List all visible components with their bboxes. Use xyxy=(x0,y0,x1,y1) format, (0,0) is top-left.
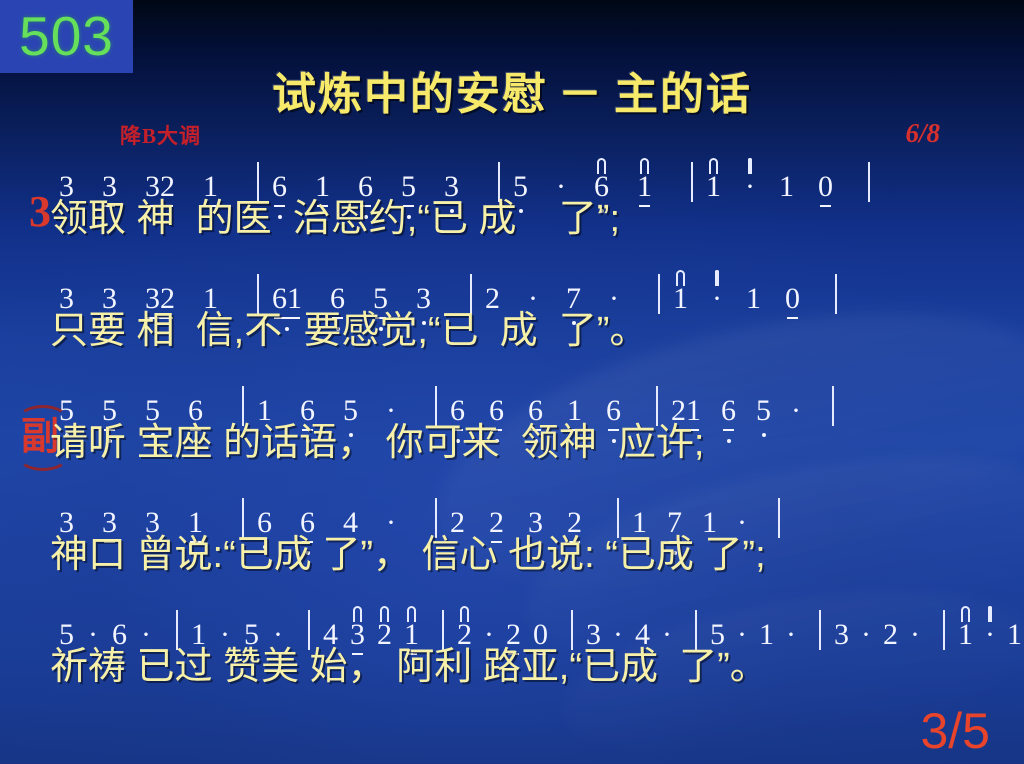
note: 5 xyxy=(512,156,529,202)
notation-system: 副5556165·666162165·请听 宝座 的话语， 你可来 领神 应许; xyxy=(0,380,1024,492)
barline xyxy=(819,610,821,650)
dotted-duration-mark: · xyxy=(984,604,996,650)
note: 32 xyxy=(144,156,176,202)
note: 21 xyxy=(670,380,702,426)
note: 3 xyxy=(443,156,460,202)
dotted-duration-mark: · xyxy=(555,156,567,202)
dotted-duration-mark: · xyxy=(661,604,673,650)
note: 6 xyxy=(527,380,544,426)
page-title: 试炼中的安慰－主的话 xyxy=(0,58,1024,122)
lyric-line: 只要 相 信,不 要感觉,“已 成 了”。 xyxy=(50,312,1014,352)
note: 3 xyxy=(527,492,544,538)
barline xyxy=(470,274,472,314)
dotted-duration-mark: · xyxy=(736,492,748,538)
note: 1 xyxy=(202,156,219,202)
note: 1 xyxy=(256,380,273,426)
note: 3 xyxy=(349,604,366,650)
dotted-duration-mark: · xyxy=(736,604,748,650)
note: 6 xyxy=(357,156,374,202)
note: 3 xyxy=(58,156,75,202)
note: 6 xyxy=(449,380,466,426)
barline xyxy=(257,274,259,314)
note: 3 xyxy=(144,492,161,538)
barline xyxy=(242,498,244,538)
note: 3 xyxy=(101,268,118,314)
note-glyph: 6 xyxy=(720,396,737,426)
note: 1 xyxy=(745,268,762,314)
dotted-duration-mark: · xyxy=(483,604,495,650)
barline xyxy=(242,386,244,426)
note: 6 xyxy=(299,492,316,538)
marker-label: 3 xyxy=(29,187,51,236)
dotted-duration-mark: · xyxy=(608,268,620,314)
note: 5 xyxy=(58,604,75,650)
note: 5 xyxy=(709,604,726,650)
barline xyxy=(308,610,310,650)
note: 1 xyxy=(705,156,722,202)
note: 6 xyxy=(593,156,610,202)
dotted-duration-mark: · xyxy=(790,380,802,426)
hymn-number: 503 xyxy=(19,9,114,64)
lyric-line: 神口 曾说:“已成 了”， 信心 也说: “已成 了”; xyxy=(50,536,1014,576)
note: 2 xyxy=(484,268,501,314)
note: 1 xyxy=(187,492,204,538)
title-dash: － xyxy=(548,70,614,119)
dotted-duration-mark: · xyxy=(272,604,284,650)
note: 1 xyxy=(701,492,718,538)
note: 3 xyxy=(58,492,75,538)
note: 7 xyxy=(565,268,582,314)
note: 6 xyxy=(329,268,346,314)
note: 5 xyxy=(243,604,260,650)
note: 2 xyxy=(376,604,393,650)
barline xyxy=(442,610,444,650)
note-glyph: · xyxy=(790,396,802,426)
note: 6 xyxy=(488,380,505,426)
note: 4 xyxy=(322,604,339,650)
note: 0 xyxy=(817,156,834,202)
barline xyxy=(571,610,573,650)
barline xyxy=(943,610,945,650)
note: 6 xyxy=(111,604,128,650)
note: 5 xyxy=(342,380,359,426)
note: 2 xyxy=(566,492,583,538)
lyric-line: 请听 宝座 的话语， 你可来 领神 应许; xyxy=(50,424,1014,464)
note: 5 xyxy=(755,380,772,426)
note-glyph: · xyxy=(984,620,996,650)
note: 1 xyxy=(314,156,331,202)
note-glyph: 1 xyxy=(1006,620,1023,650)
notation-system: 5·6·1·5·43212·203·4·5·1·3·2·1·10祈祷 已过 赞美… xyxy=(0,604,1024,716)
dotted-duration-mark: · xyxy=(219,604,231,650)
note: 4 xyxy=(634,604,651,650)
note: 0 xyxy=(784,268,801,314)
note: 1 xyxy=(636,156,653,202)
barline xyxy=(176,610,178,650)
notation-system: 33321616532·7·1·10只要 相 信,不 要感觉,“已 成 了”。 xyxy=(0,268,1024,380)
dotted-duration-mark: · xyxy=(909,604,921,650)
dotted-duration-mark: · xyxy=(744,156,756,202)
notation-system: 3331664·2232171·神口 曾说:“已成 了”， 信心 也说: “已成… xyxy=(0,492,1024,604)
barline xyxy=(656,386,658,426)
barline xyxy=(435,386,437,426)
note: 2 xyxy=(456,604,473,650)
note: 3 xyxy=(833,604,850,650)
note: 1 xyxy=(672,268,689,314)
dotted-duration-mark: · xyxy=(385,380,397,426)
note: 6 xyxy=(187,380,204,426)
note: 6 xyxy=(271,156,288,202)
dotted-duration-mark: · xyxy=(527,268,539,314)
page-number: 3/5 xyxy=(920,706,990,756)
note-glyph: · xyxy=(860,620,872,650)
note: 6 xyxy=(299,380,316,426)
note-glyph: 0 xyxy=(784,284,801,314)
note: 6 xyxy=(720,380,737,426)
notation-systems: 333321616535·611·10领取 神 的医 治恩约,“已 成 了”;3… xyxy=(0,156,1024,716)
lyric-line: 领取 神 的医 治恩约,“已 成 了”; xyxy=(50,200,1014,240)
note-glyph: 1 xyxy=(778,172,795,202)
note-glyph: · xyxy=(744,172,756,202)
dotted-duration-mark: · xyxy=(87,604,99,650)
note-glyph: 1 xyxy=(745,284,762,314)
dotted-duration-mark: · xyxy=(711,268,723,314)
barline xyxy=(778,498,780,538)
note: 1 xyxy=(758,604,775,650)
barline xyxy=(257,162,259,202)
note-glyph: 1 xyxy=(636,172,653,202)
note: 3 xyxy=(101,492,118,538)
title-subtitle: 主的话 xyxy=(614,70,752,119)
note: 1 xyxy=(202,268,219,314)
note: 61 xyxy=(271,268,303,314)
barline xyxy=(658,274,660,314)
note: 1 xyxy=(403,604,420,650)
title-main: 试炼中的安慰 xyxy=(272,70,548,119)
note: 2 xyxy=(505,604,522,650)
note: 7 xyxy=(666,492,683,538)
barline xyxy=(435,498,437,538)
note-glyph: 3 xyxy=(833,620,850,650)
note: 3 xyxy=(58,268,75,314)
dotted-duration-mark: · xyxy=(140,604,152,650)
note: 3 xyxy=(415,268,432,314)
time-signature: 6/8 xyxy=(905,118,940,149)
note-glyph: 5 xyxy=(755,396,772,426)
note: 5 xyxy=(372,268,389,314)
barline xyxy=(695,610,697,650)
note-glyph: 1 xyxy=(705,172,722,202)
note-glyph: 2 xyxy=(882,620,899,650)
note: 5 xyxy=(400,156,417,202)
barline xyxy=(835,274,837,314)
note-glyph: 1 xyxy=(672,284,689,314)
barline xyxy=(498,162,500,202)
notation-system: 333321616535·611·10领取 神 的医 治恩约,“已 成 了”; xyxy=(0,156,1024,268)
note: 2 xyxy=(882,604,899,650)
note: 2 xyxy=(488,492,505,538)
hymn-slide: 503 试炼中的安慰－主的话 降B大调 6/8 333321616535·611… xyxy=(0,0,1024,764)
note: 4 xyxy=(342,492,359,538)
note: 1 xyxy=(631,492,648,538)
barline xyxy=(691,162,693,202)
note-glyph: 1 xyxy=(957,620,974,650)
note: 5 xyxy=(58,380,75,426)
note: 5 xyxy=(101,380,118,426)
note: 3 xyxy=(585,604,602,650)
note-glyph: · xyxy=(909,620,921,650)
note: 1 xyxy=(957,604,974,650)
barline xyxy=(868,162,870,202)
note: 3 xyxy=(101,156,118,202)
note: 6 xyxy=(605,380,622,426)
dotted-duration-mark: · xyxy=(785,604,797,650)
note: 1 xyxy=(190,604,207,650)
dotted-duration-mark: · xyxy=(612,604,624,650)
lyric-line: 祈祷 已过 赞美 始， 阿利 路亚,“已成 了”。 xyxy=(50,648,1014,688)
note: 1 xyxy=(778,156,795,202)
note: 1 xyxy=(566,380,583,426)
key-signature: 降B大调 xyxy=(120,120,201,150)
note: 5 xyxy=(144,380,161,426)
dotted-duration-mark: · xyxy=(860,604,872,650)
barline xyxy=(617,498,619,538)
note-glyph: · xyxy=(785,620,797,650)
dotted-duration-mark: · xyxy=(385,492,397,538)
note: 2 xyxy=(449,492,466,538)
note: 0 xyxy=(532,604,549,650)
note: 6 xyxy=(256,492,273,538)
barline xyxy=(832,386,834,426)
note-glyph: · xyxy=(711,284,723,314)
note: 1 xyxy=(1006,604,1023,650)
note: 32 xyxy=(144,268,176,314)
note-glyph: 0 xyxy=(817,172,834,202)
